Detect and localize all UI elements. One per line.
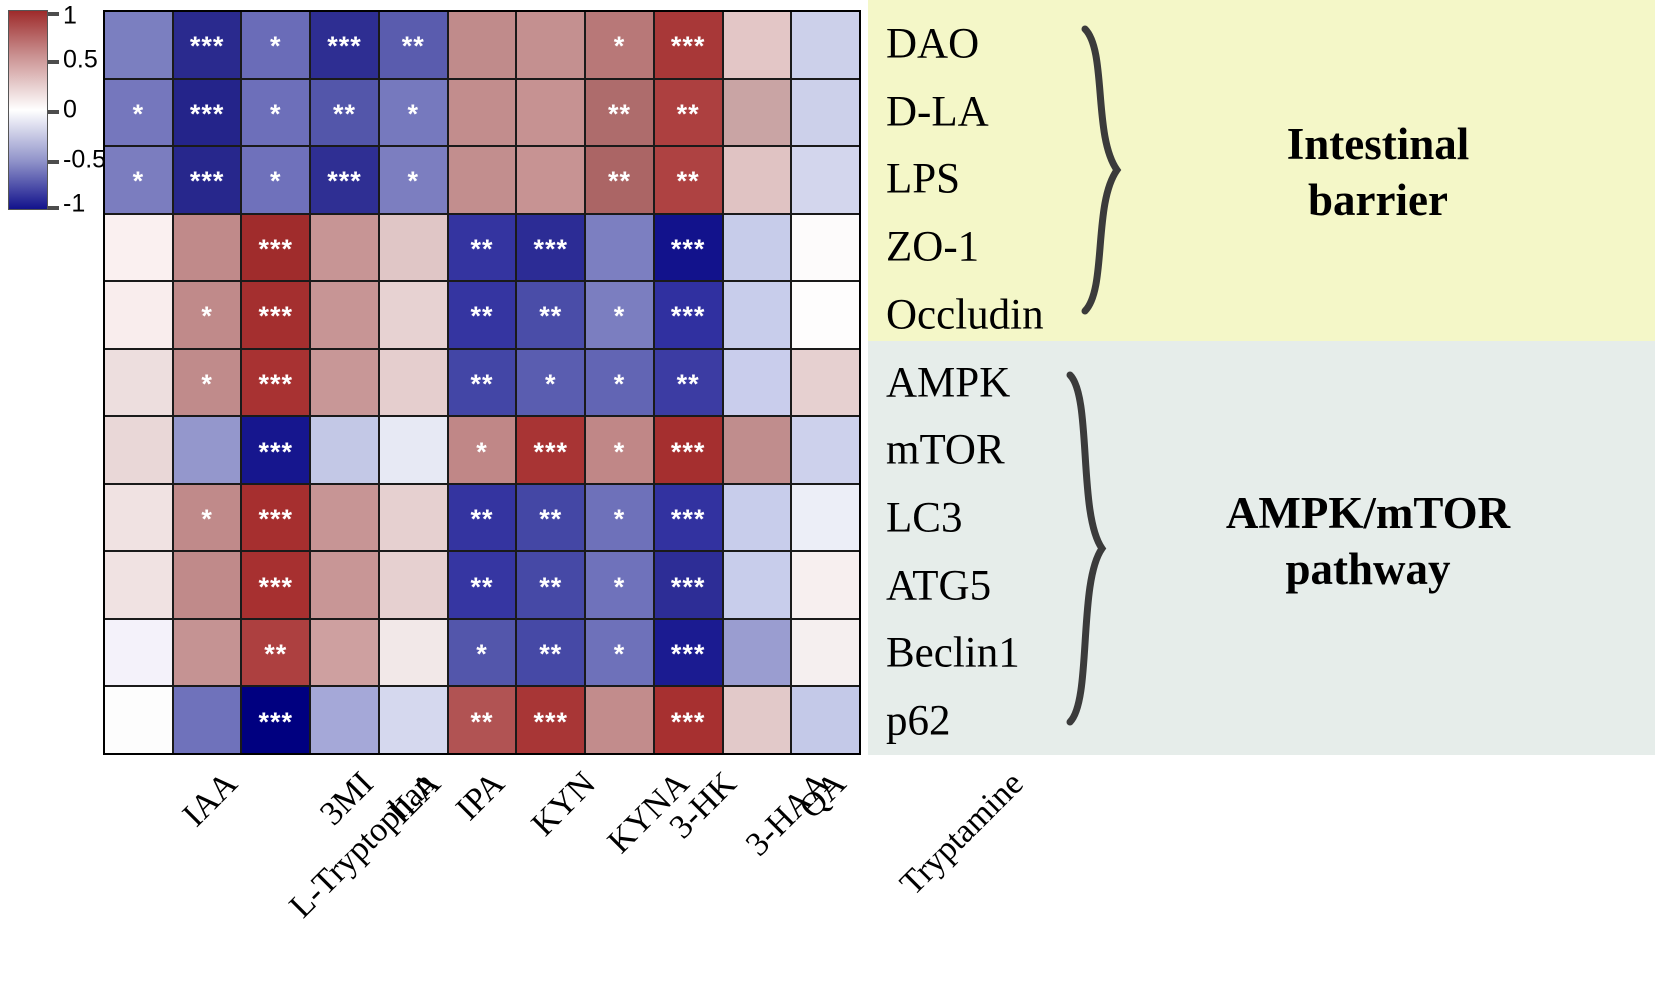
heatmap-cell <box>105 282 172 348</box>
colorbar-tick-3 <box>48 160 59 164</box>
heatmap-cell: * <box>586 485 653 551</box>
heatmap-cell: ** <box>311 80 378 146</box>
heatmap-cell <box>105 417 172 483</box>
significance-marker: *** <box>327 33 362 60</box>
heatmap-cell <box>380 687 447 753</box>
heatmap-cell: *** <box>242 350 309 416</box>
heatmap-cell <box>174 687 241 753</box>
heatmap-cell: *** <box>655 552 722 618</box>
colorbar-tick-label: 1 <box>63 4 77 29</box>
heatmap-cell <box>449 12 516 78</box>
heatmap-cell: *** <box>655 687 722 753</box>
heatmap-cell <box>174 620 241 686</box>
heatmap-cell <box>792 215 859 281</box>
heatmap-cell: ** <box>242 620 309 686</box>
heatmap-cell <box>105 687 172 753</box>
significance-marker: ** <box>470 709 493 736</box>
row-label-p62: p62 <box>886 697 951 746</box>
group-brace <box>1073 25 1143 315</box>
group-title-intestinal-barrier: Intestinal barrier <box>1287 116 1470 229</box>
significance-marker: * <box>614 303 626 330</box>
significance-marker: *** <box>671 439 706 466</box>
significance-marker: *** <box>259 574 294 601</box>
heatmap-cell: * <box>586 12 653 78</box>
significance-marker: *** <box>671 236 706 263</box>
heatmap-cell: ** <box>449 687 516 753</box>
significance-marker: *** <box>533 236 568 263</box>
heatmap-cell: * <box>174 282 241 348</box>
heatmap-cell: *** <box>517 687 584 753</box>
heatmap-cell <box>174 552 241 618</box>
correlation-heatmap: ****************************************… <box>103 10 861 755</box>
heatmap-cell <box>105 350 172 416</box>
heatmap-cell <box>792 687 859 753</box>
significance-marker: *** <box>671 574 706 601</box>
row-label-d-la: D-LA <box>886 87 989 136</box>
heatmap-cell <box>517 80 584 146</box>
significance-marker: ** <box>539 506 562 533</box>
heatmap-cell: * <box>586 417 653 483</box>
heatmap-cell: *** <box>655 417 722 483</box>
heatmap-cell <box>792 417 859 483</box>
heatmap-cell: ** <box>517 282 584 348</box>
significance-marker: *** <box>259 506 294 533</box>
heatmap-cell: *** <box>242 215 309 281</box>
significance-marker: ** <box>539 574 562 601</box>
heatmap-cell <box>792 282 859 348</box>
heatmap-cell: *** <box>242 687 309 753</box>
significance-marker: * <box>614 439 626 466</box>
heatmap-cell: *** <box>174 12 241 78</box>
heatmap-cell <box>517 12 584 78</box>
significance-marker: * <box>614 33 626 60</box>
heatmap-cell <box>311 215 378 281</box>
significance-marker: * <box>476 641 488 668</box>
heatmap-cell <box>792 350 859 416</box>
significance-marker: *** <box>190 101 225 128</box>
heatmap-cell <box>105 12 172 78</box>
x-axis-label-tryptamine: Tryptamine <box>893 765 1031 903</box>
significance-marker: ** <box>470 303 493 330</box>
significance-marker: * <box>614 574 626 601</box>
heatmap-cell: *** <box>242 417 309 483</box>
colorbar-tick-1 <box>48 60 59 64</box>
significance-marker: ** <box>470 574 493 601</box>
heatmap-cell <box>724 485 791 551</box>
heatmap-cell: *** <box>174 147 241 213</box>
heatmap-cell <box>586 687 653 753</box>
heatmap-cell <box>792 485 859 551</box>
heatmap-cell: *** <box>174 80 241 146</box>
colorbar-tick-label: 0 <box>63 98 77 123</box>
significance-marker: *** <box>259 371 294 398</box>
heatmap-cell: * <box>174 485 241 551</box>
heatmap-cell <box>517 147 584 213</box>
row-label-zo-1: ZO-1 <box>886 223 979 272</box>
colorbar-tick-label: -1 <box>63 192 85 217</box>
significance-marker: ** <box>402 33 425 60</box>
heatmap-cell: * <box>105 80 172 146</box>
heatmap-cell: ** <box>655 80 722 146</box>
row-label-lps: LPS <box>886 155 960 204</box>
heatmap-cell <box>311 552 378 618</box>
significance-marker: * <box>408 168 420 195</box>
heatmap-cell <box>380 215 447 281</box>
significance-marker: * <box>133 168 145 195</box>
row-label-atg5: ATG5 <box>886 561 991 610</box>
heatmap-cell <box>311 687 378 753</box>
colorbar-tick-label: -0.5 <box>63 148 106 173</box>
heatmap-cell <box>380 282 447 348</box>
significance-marker: * <box>133 101 145 128</box>
heatmap-cell: *** <box>242 552 309 618</box>
significance-marker: ** <box>470 236 493 263</box>
heatmap-cell <box>380 485 447 551</box>
colorbar-tick-0 <box>48 12 59 16</box>
heatmap-cell: * <box>174 350 241 416</box>
group-title-ampk-mtor-pathway: AMPK/mTOR pathway <box>1226 485 1510 598</box>
colorbar-tick-2 <box>48 110 59 114</box>
colorbar: 10.50-0.5-1 <box>8 10 98 210</box>
heatmap-cell: *** <box>655 282 722 348</box>
significance-marker: * <box>545 371 557 398</box>
heatmap-cell <box>380 620 447 686</box>
heatmap-cell <box>380 350 447 416</box>
significance-marker: * <box>270 168 282 195</box>
heatmap-cell <box>105 485 172 551</box>
heatmap-cell <box>792 80 859 146</box>
significance-marker: *** <box>671 641 706 668</box>
heatmap-cell: * <box>517 350 584 416</box>
x-axis-labels: IAAL-Tryptophan3MIILAIPAKYNKYNA3-HK3-HAA… <box>103 757 861 1005</box>
significance-marker: * <box>270 101 282 128</box>
heatmap-cell: *** <box>242 485 309 551</box>
heatmap-cell <box>105 215 172 281</box>
row-label-panels: DAOD-LALPSZO-1OccludinIntestinal barrier… <box>868 0 1655 755</box>
row-label-occludin: Occludin <box>886 290 1044 339</box>
heatmap-cell: *** <box>311 147 378 213</box>
heatmap-cell <box>724 350 791 416</box>
significance-marker: ** <box>539 303 562 330</box>
heatmap-cell <box>724 282 791 348</box>
significance-marker: ** <box>677 168 700 195</box>
x-axis-label-ipa: IPA <box>449 765 512 828</box>
group-brace <box>1058 371 1128 726</box>
colorbar-tick-4 <box>48 206 59 210</box>
significance-marker: *** <box>259 236 294 263</box>
heatmap-cell <box>724 417 791 483</box>
significance-marker: * <box>614 641 626 668</box>
row-label-lc3: LC3 <box>886 493 962 542</box>
significance-marker: *** <box>259 439 294 466</box>
heatmap-cell <box>311 485 378 551</box>
heatmap-cell: * <box>380 80 447 146</box>
significance-marker: * <box>476 439 488 466</box>
heatmap-cell: *** <box>655 620 722 686</box>
heatmap-cell <box>724 620 791 686</box>
heatmap-cell <box>724 12 791 78</box>
heatmap-cell: * <box>105 147 172 213</box>
heatmap-cell: *** <box>655 485 722 551</box>
heatmap-cell <box>380 552 447 618</box>
significance-marker: ** <box>539 641 562 668</box>
heatmap-cell: * <box>586 282 653 348</box>
heatmap-cell <box>724 215 791 281</box>
heatmap-cell <box>311 620 378 686</box>
heatmap-cell: ** <box>517 552 584 618</box>
significance-marker: * <box>408 101 420 128</box>
heatmap-cell <box>311 417 378 483</box>
heatmap-cell: * <box>586 552 653 618</box>
heatmap-cell: *** <box>655 12 722 78</box>
panel-ampk-mtor-pathway: AMPKmTORLC3ATG5Beclin1p62AMPK/mTOR pathw… <box>868 341 1655 755</box>
heatmap-cell <box>586 215 653 281</box>
heatmap-cell <box>380 417 447 483</box>
heatmap-cell <box>105 552 172 618</box>
significance-marker: ** <box>608 168 631 195</box>
heatmap-cell: ** <box>449 552 516 618</box>
heatmap-cell <box>724 80 791 146</box>
significance-marker: * <box>201 303 213 330</box>
significance-marker: * <box>201 506 213 533</box>
heatmap-cell: * <box>586 350 653 416</box>
x-axis-label-iaa: IAA <box>176 765 246 835</box>
significance-marker: *** <box>190 168 225 195</box>
significance-marker: *** <box>533 709 568 736</box>
significance-marker: *** <box>533 439 568 466</box>
heatmap-cell: * <box>449 417 516 483</box>
significance-marker: ** <box>470 506 493 533</box>
significance-marker: *** <box>259 303 294 330</box>
significance-marker: * <box>614 371 626 398</box>
heatmap-cell <box>105 620 172 686</box>
heatmap-cell <box>174 417 241 483</box>
heatmap-cell: ** <box>449 215 516 281</box>
row-label-ampk: AMPK <box>886 358 1010 407</box>
heatmap-cell: * <box>242 12 309 78</box>
significance-marker: ** <box>264 641 287 668</box>
significance-marker: ** <box>333 101 356 128</box>
heatmap-cell <box>792 552 859 618</box>
heatmap-cell <box>724 552 791 618</box>
significance-marker: *** <box>190 33 225 60</box>
heatmap-cell: *** <box>517 417 584 483</box>
heatmap-cell <box>724 687 791 753</box>
significance-marker: *** <box>259 709 294 736</box>
heatmap-cell: ** <box>586 147 653 213</box>
heatmap-cell: ** <box>517 485 584 551</box>
heatmap-cell: ** <box>380 12 447 78</box>
significance-marker: *** <box>671 303 706 330</box>
significance-marker: * <box>614 506 626 533</box>
heatmap-cell <box>311 350 378 416</box>
heatmap-cell: * <box>586 620 653 686</box>
heatmap-cell <box>792 12 859 78</box>
significance-marker: *** <box>671 709 706 736</box>
significance-marker: * <box>201 371 213 398</box>
colorbar-tick-label: 0.5 <box>63 48 98 73</box>
heatmap-cell: * <box>242 147 309 213</box>
row-label-dao: DAO <box>886 19 979 68</box>
panel-intestinal-barrier: DAOD-LALPSZO-1OccludinIntestinal barrier <box>868 0 1655 341</box>
heatmap-cell: ** <box>449 350 516 416</box>
heatmap-cell: ** <box>449 282 516 348</box>
heatmap-cell <box>449 147 516 213</box>
row-label-beclin1: Beclin1 <box>886 629 1020 678</box>
heatmap-cell <box>792 147 859 213</box>
significance-marker: *** <box>327 168 362 195</box>
heatmap-cell: ** <box>449 485 516 551</box>
colorbar-gradient <box>8 10 48 210</box>
significance-marker: ** <box>677 101 700 128</box>
heatmap-cell: *** <box>655 215 722 281</box>
heatmap-cell: ** <box>655 350 722 416</box>
row-label-mtor: mTOR <box>886 426 1005 475</box>
heatmap-cell: *** <box>242 282 309 348</box>
heatmap-cell: *** <box>311 12 378 78</box>
heatmap-cell: ** <box>586 80 653 146</box>
heatmap-cell: ** <box>517 620 584 686</box>
significance-marker: *** <box>671 33 706 60</box>
heatmap-cell: * <box>242 80 309 146</box>
significance-marker: *** <box>671 506 706 533</box>
heatmap-cell <box>792 620 859 686</box>
x-axis-label-kyn: KYN <box>524 765 603 844</box>
significance-marker: ** <box>470 371 493 398</box>
heatmap-cell <box>174 215 241 281</box>
heatmap-cell: ** <box>655 147 722 213</box>
heatmap-cell <box>449 80 516 146</box>
heatmap-cell: * <box>449 620 516 686</box>
heatmap-cell <box>311 282 378 348</box>
heatmap-cell: *** <box>517 215 584 281</box>
significance-marker: ** <box>677 371 700 398</box>
heatmap-cell <box>724 147 791 213</box>
heatmap-cell: * <box>380 147 447 213</box>
significance-marker: ** <box>608 101 631 128</box>
significance-marker: * <box>270 33 282 60</box>
